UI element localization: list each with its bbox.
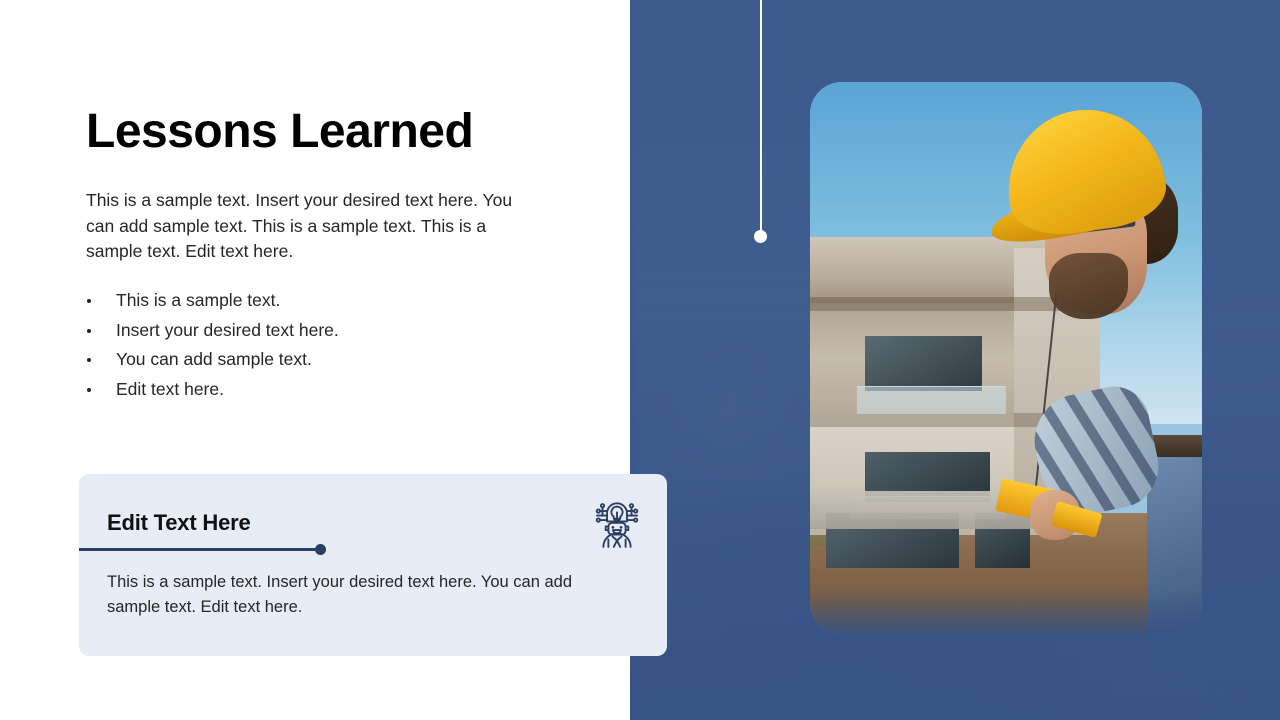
vertical-line-dot-decoration [754,230,767,243]
slide-canvas: Lessons Learned This is a sample text. I… [0,0,1280,720]
callout-title: Edit Text Here [107,510,251,536]
ai-robot-lightbulb-icon [588,497,646,555]
photo-window-upper [865,336,983,391]
callout-underline-dot [315,544,326,555]
photo-worker-beard [1049,253,1127,319]
photo-bottom-blue-tint [810,590,1202,634]
photo-slab-shadow-upper [810,297,1084,311]
page-title: Lessons Learned [86,104,473,159]
list-item: Insert your desired text here. [84,316,544,346]
list-item: You can add sample text. [84,345,544,375]
photo-balcony-railing-upper [857,386,1006,415]
callout-body-text: This is a sample text. Insert your desir… [107,570,617,620]
callout-underline [79,548,320,551]
bullet-list: This is a sample text. Insert your desir… [84,286,544,404]
vertical-line-decoration [760,0,762,236]
intro-paragraph: This is a sample text. Insert your desir… [86,188,538,265]
list-item: This is a sample text. [84,286,544,316]
list-item: Edit text here. [84,375,544,405]
construction-worker-photo [810,82,1202,634]
callout-card: Edit Text Here This is a sample text. In… [79,474,667,656]
